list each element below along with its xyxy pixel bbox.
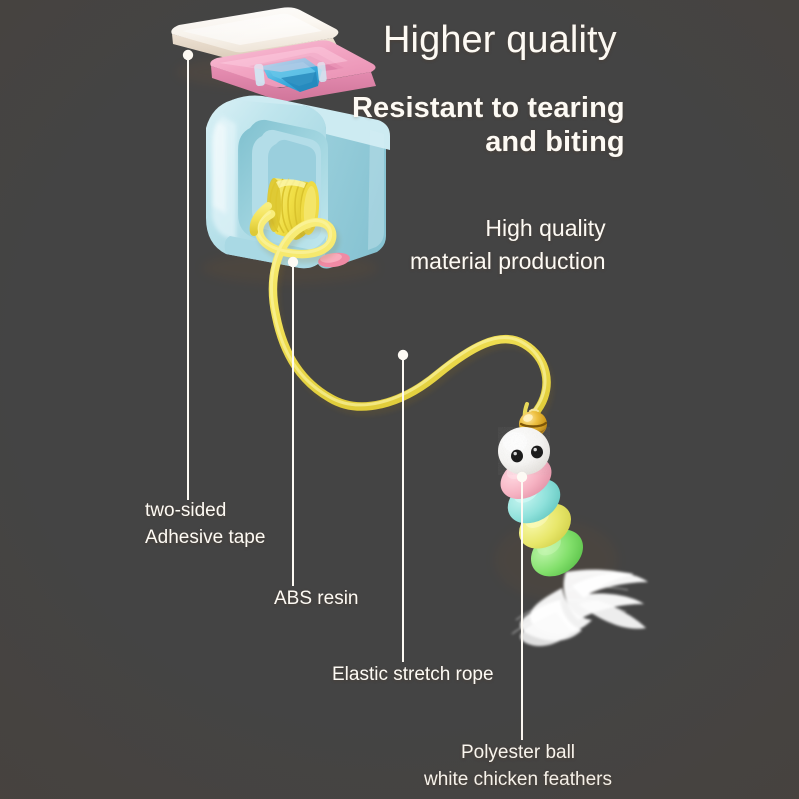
callout-polyester-ball-line2: white chicken feathers <box>424 767 612 794</box>
subheadline-line2: material production <box>410 245 606 278</box>
callout-adhesive-tape-line1: two-sided <box>145 498 265 525</box>
page-title: Higher quality <box>383 18 617 62</box>
headline-resistant-line1: Resistant to tearing <box>352 92 625 124</box>
caterpillar-toy <box>493 404 648 646</box>
callout-elastic-rope: Elastic stretch rope <box>332 662 494 689</box>
callout-adhesive-tape: two-sided Adhesive tape <box>145 498 265 552</box>
headline-resistant: Resistant to tearing and biting <box>352 92 625 159</box>
callout-abs-resin: ABS resin <box>274 586 358 613</box>
infographic-canvas: Higher quality Resistant to tearing and … <box>0 0 799 799</box>
callout-abs-resin-line1: ABS resin <box>274 586 358 613</box>
callout-elastic-rope-line1: Elastic stretch rope <box>332 662 494 689</box>
callout-adhesive-tape-line2: Adhesive tape <box>145 525 265 552</box>
headline-resistant-line2: and biting <box>352 126 625 160</box>
subheadline-line1: High quality <box>410 212 606 245</box>
callout-polyester-ball: Polyester ball white chicken feathers <box>424 740 612 794</box>
callout-polyester-ball-line1: Polyester ball <box>424 740 612 767</box>
subheadline-material: High quality material production <box>410 212 606 277</box>
